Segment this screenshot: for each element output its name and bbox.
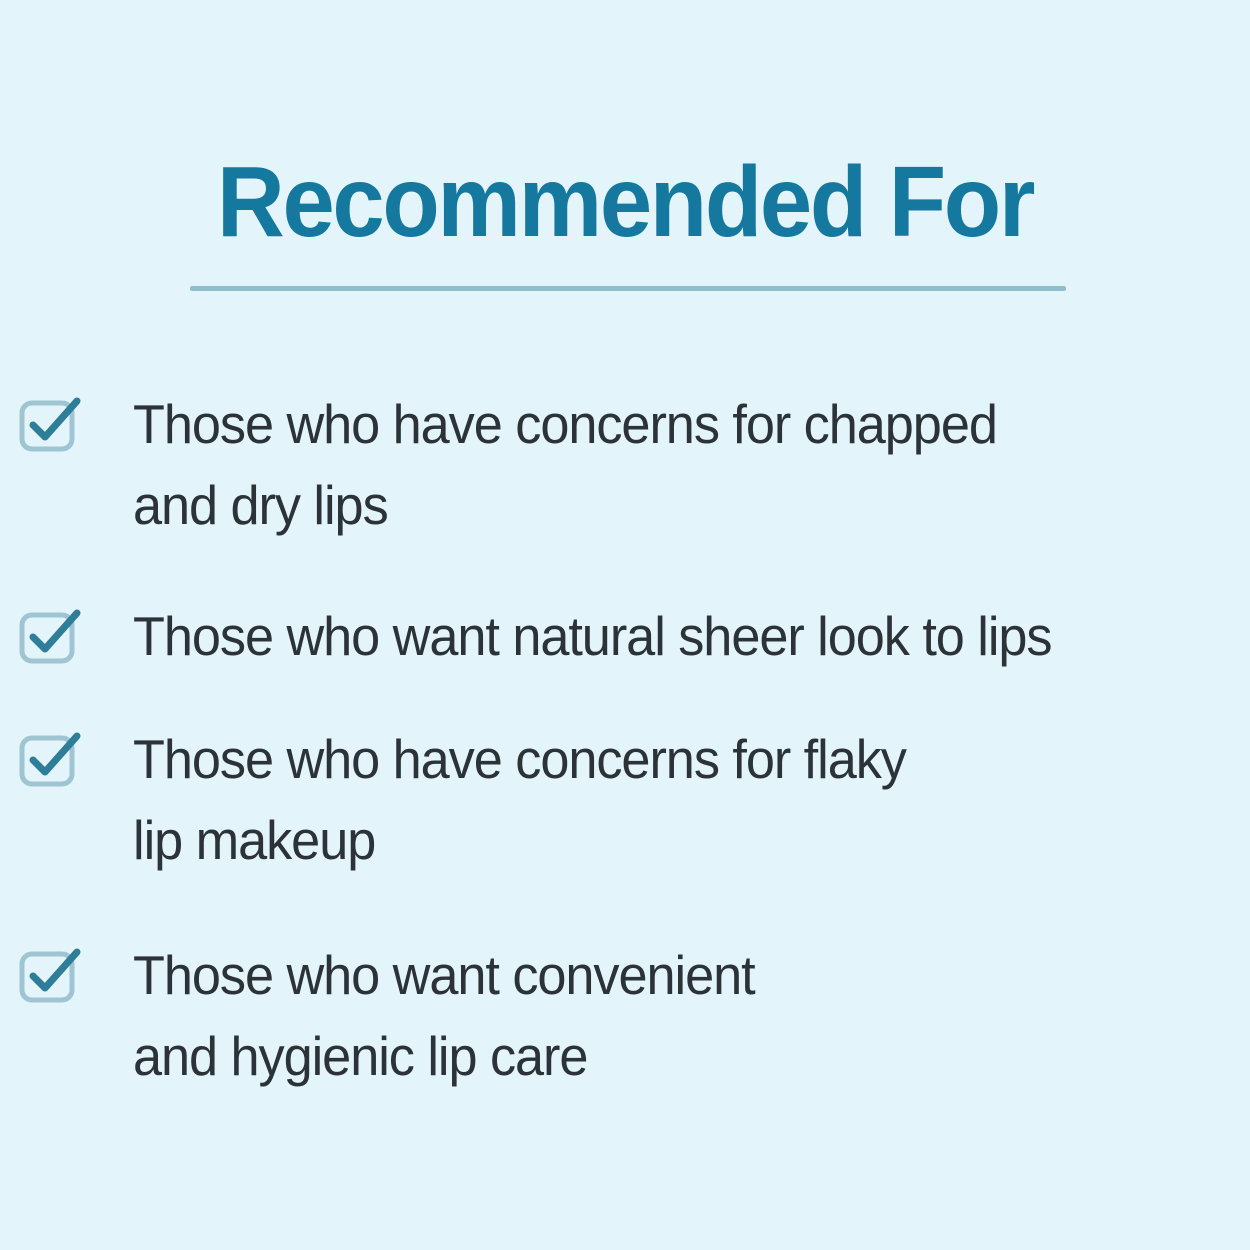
list-item: Those who have concerns for flaky lip ma…	[0, 719, 1250, 881]
list-item: Those who want natural sheer look to lip…	[0, 596, 1250, 677]
title-divider	[190, 286, 1066, 291]
list-item-label: Those who want natural sheer look to lip…	[0, 596, 1188, 677]
page-title: Recommended For	[38, 150, 1213, 254]
list-item-label: Those who have concerns for chapped and …	[0, 384, 1188, 546]
list-item: Those who want convenient and hygienic l…	[0, 935, 1250, 1097]
recommendation-list: Those who have concerns for chapped and …	[0, 384, 1250, 1097]
list-item-label: Those who have concerns for flaky lip ma…	[0, 719, 1188, 881]
list-item: Those who have concerns for chapped and …	[0, 384, 1250, 546]
list-item-label: Those who want convenient and hygienic l…	[0, 935, 1188, 1097]
recommended-for-panel: Recommended For Those who have concerns …	[0, 0, 1250, 1250]
title-block: Recommended For	[0, 150, 1250, 254]
